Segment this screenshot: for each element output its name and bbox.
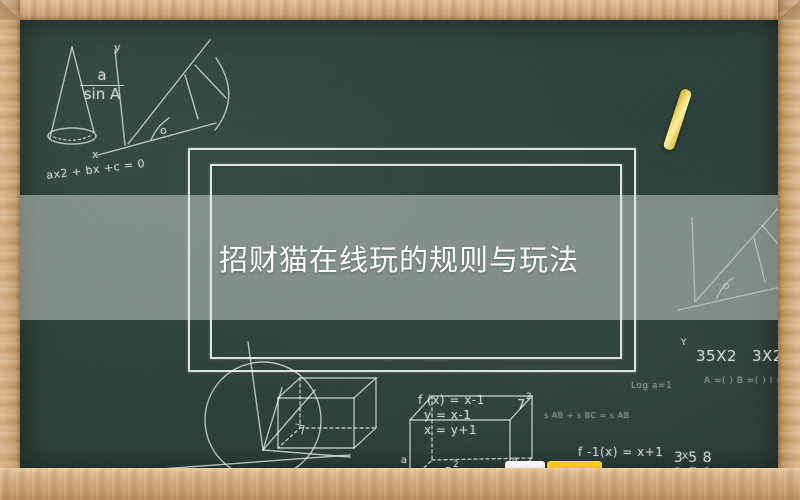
inverse-function-label: f -1(x) = x+1 bbox=[578, 445, 663, 459]
fraction-numerator: a bbox=[387, 456, 421, 467]
fraction-numerator: a bbox=[80, 68, 124, 84]
frame-right-rail bbox=[778, 0, 800, 500]
axis-y-label-top-left: y bbox=[114, 41, 121, 54]
addition-problem: 3 5 8 2 7 9 6 3 7 bbox=[658, 450, 712, 468]
function-y-label: y = x-1 bbox=[424, 408, 471, 422]
seven-exponent-label: 2 bbox=[526, 392, 532, 402]
cone-base-dashes bbox=[54, 136, 90, 140]
vector-sum-label: s AB + s BC = s AB bbox=[544, 411, 630, 420]
eight-exponent-label: 2 bbox=[453, 460, 459, 468]
cone-left-edge bbox=[50, 47, 72, 138]
page-title: 招财猫在线玩的规则与玩法 bbox=[20, 195, 778, 320]
frame-left-rail bbox=[0, 0, 20, 500]
chalk-tray-ledge bbox=[0, 468, 800, 500]
frame-top-rail bbox=[0, 0, 800, 20]
multiply-3x2-label: 3X2 bbox=[752, 347, 778, 365]
angle-cross-tl bbox=[195, 65, 226, 98]
log-a-label: Log a=1 bbox=[631, 381, 672, 391]
law-of-sines-top-left: a sin A bbox=[80, 68, 124, 103]
chalkboard-banner: a sin A ax2 + bx +c = 0 y x o o f (x) = … bbox=[0, 0, 800, 500]
seven-base-label: 7 bbox=[517, 398, 526, 413]
multiply-35x2-label: 35X2 bbox=[696, 347, 737, 365]
matrix-row-label: A =( ) B =( ) I =( ) bbox=[704, 376, 778, 386]
cube-center bbox=[278, 378, 376, 448]
axis-x-label-top-left: x bbox=[92, 148, 99, 161]
function-fx-label: f (x) = x-1 bbox=[418, 393, 485, 407]
angle-tick-tl bbox=[185, 75, 198, 119]
function-x-label: x = y+1 bbox=[424, 423, 477, 437]
axis-y-label-bottom-right: Y bbox=[681, 338, 687, 348]
law-of-sines-bottom-left: a sin A bbox=[387, 456, 421, 468]
fraction-denominator: sin A bbox=[80, 87, 124, 103]
angle-o-label-top-left: o bbox=[160, 124, 167, 137]
addition-addend-top: 3 5 8 bbox=[658, 450, 712, 466]
